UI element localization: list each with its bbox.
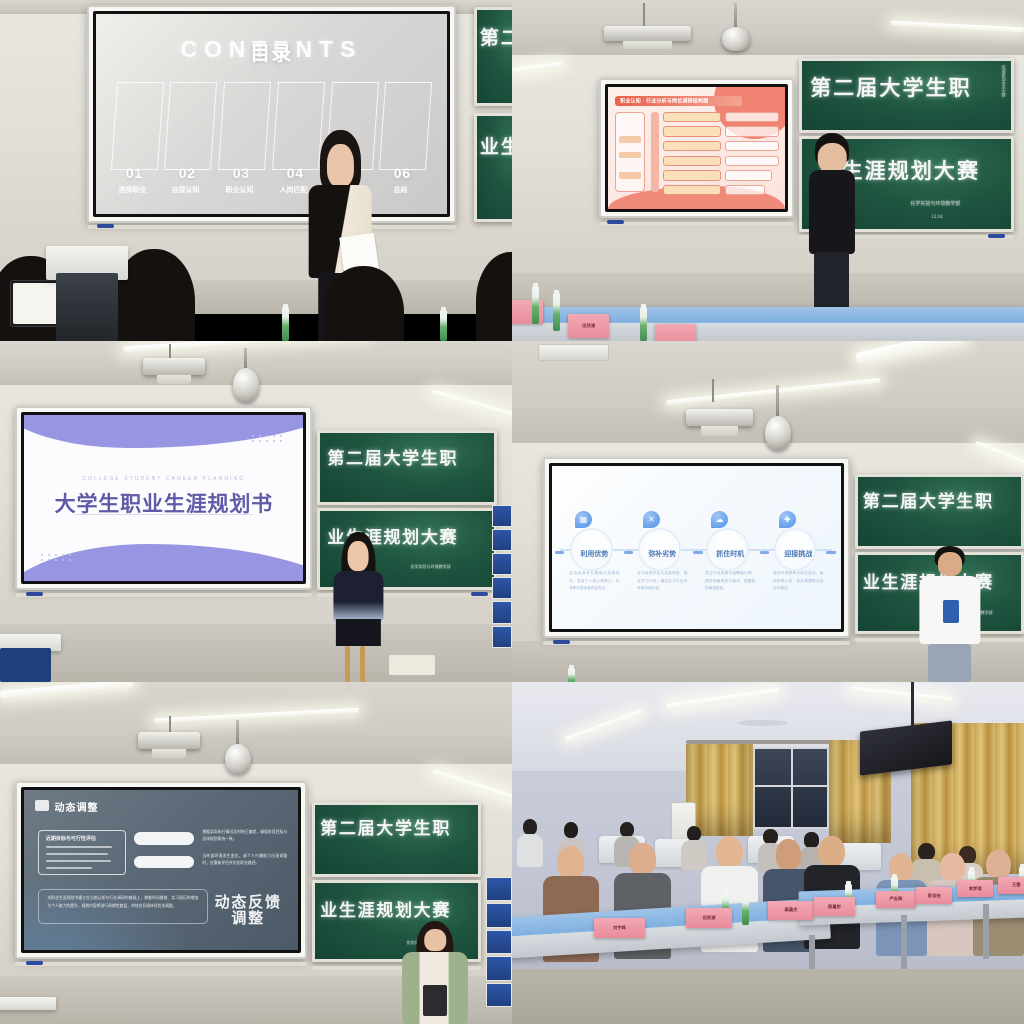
name-placard <box>655 324 696 341</box>
contents-card: 02 自我认知 <box>164 82 217 170</box>
blackboard-upper: 第二届大学生职 <box>855 474 1024 549</box>
window-curtain <box>686 744 753 836</box>
watermark-line2: 调整 <box>215 912 282 928</box>
chalk-text-line2: 业生涯规划大赛 <box>320 896 451 921</box>
water-bottle <box>532 286 539 324</box>
bag <box>423 985 447 1016</box>
presenter-figure <box>328 532 389 682</box>
name-placard: 田欣源 <box>686 908 732 929</box>
blackboard-upper: 第二届大学生职 <box>317 430 496 505</box>
security-camera <box>225 744 251 775</box>
card-label: 选择职业 <box>118 185 146 195</box>
photo-collage: CONTENTS 目录 01 选择职业 02 自我认知 03 职业认 <box>0 0 1024 1024</box>
water-bottle <box>568 668 575 682</box>
audience-member <box>517 819 543 867</box>
panel-contents-slide: CONTENTS 目录 01 选择职业 02 自我认知 03 职业认 <box>0 0 512 341</box>
note-text: 根据实际执行情况及时修正偏差，确保阶段目标与总体规划保持一致。 <box>202 829 287 845</box>
ceiling-vent <box>538 344 610 361</box>
water-bottle <box>440 310 447 341</box>
panel-red-mindmap: 职业认知 · 行业分析与岗位调研结构图 <box>512 0 1024 341</box>
projector <box>138 732 199 749</box>
slide-title: 动态调整 <box>54 799 98 814</box>
water-bottle <box>282 307 289 341</box>
slide-red-mindmap: 职业认知 · 行业分析与岗位调研结构图 <box>608 87 785 209</box>
contents-card: 01 选择职业 <box>110 82 163 170</box>
name-placard: 刘宇辉 <box>594 918 645 939</box>
card-label: 总结 <box>394 185 408 195</box>
step-title: 抓住时机 <box>702 549 759 559</box>
card-label: 职业认知 <box>226 185 254 195</box>
slide-contents: CONTENTS 目录 01 选择职业 02 自我认知 03 职业认 <box>96 14 447 214</box>
tshirt-logo <box>943 600 959 623</box>
water-bottle <box>742 894 749 925</box>
slide-watermark: 动态反馈 调整 <box>215 896 282 928</box>
watermark-line1: 动态反馈 <box>215 896 282 912</box>
card-label: 自我认知 <box>172 185 200 195</box>
chalk-side-note: 欢迎参加本次大赛 <box>1001 65 1007 97</box>
projector <box>143 358 204 375</box>
security-camera <box>722 27 750 51</box>
chalk-text-line1: 第二届大学生职 <box>480 23 512 50</box>
wall-poster-strip <box>492 505 512 648</box>
objective-box: 近期目标与可行性评估 <box>38 830 126 875</box>
step-body: 面对市场竞争与岗位变化，保持积极心态，动态调整职业目标与路径。 <box>773 570 823 592</box>
step-item: ▦ 利用优势 结合自身专业基础与实践经历，发挥个人核心竞争力，在求职中突出差异化… <box>566 489 623 613</box>
name-placard: 严志辉 <box>876 891 917 908</box>
panel-blue-steps: ▦ 利用优势 结合自身专业基础与实践经历，发挥个人核心竞争力，在求职中突出差异化… <box>512 341 1024 682</box>
projector <box>686 409 753 426</box>
tools-icon: ✕ <box>643 511 660 528</box>
step-body: 针对经验不足与技能短板，制定学习计划，通过实习与证书考取持续补强。 <box>637 570 687 592</box>
slide-header: 职业认知 · 行业分析与岗位调研结构图 <box>620 97 708 104</box>
security-camera <box>233 368 259 402</box>
step-item: ✕ 弥补劣势 针对经验不足与技能短板，制定学习计划，通过实习与证书考取持续补强。 <box>634 489 691 613</box>
chalk-subtitle: 化学实验与环境教学部 <box>910 200 960 207</box>
name-placard: 陈佳怡 <box>916 887 952 904</box>
projection-screen: ▦ 利用优势 结合自身专业基础与实践经历，发挥个人核心竞争力，在求职中突出差异化… <box>543 457 850 638</box>
step-title: 利用优势 <box>566 549 623 559</box>
name-placard: 李梦琪 <box>957 880 993 897</box>
title-marker <box>35 800 49 811</box>
projection-screen: 职业认知 · 行业分析与岗位调研结构图 <box>599 78 794 218</box>
step-body: 关注行业政策与招聘窗口期，提前准备简历与面试，把握校招黄金阶段。 <box>705 570 755 592</box>
wall-poster-strip <box>486 877 512 1007</box>
blackboard-lower: 业生涯规划大赛 <box>474 113 512 222</box>
side-table <box>0 997 56 1011</box>
slide-title-cn: 大学生职业生涯规划书 <box>24 488 303 518</box>
side-table-base <box>0 648 51 682</box>
chalk-text-line1: 第二届大学生职 <box>320 814 451 839</box>
chalk-subtitle: 化学实验与环境教学部 <box>410 564 450 570</box>
phone-recording <box>10 280 61 328</box>
summary-box: 本职业生涯规划书建立在当前认知与行业调研的基础上，随着时间推移、实习阅历的增加与… <box>38 889 208 924</box>
water-bottle <box>553 293 560 331</box>
step-title: 弥补劣势 <box>634 549 691 559</box>
name-placard: 田欣源 <box>568 314 609 338</box>
dot-grid <box>41 554 73 561</box>
whiteboard-screen: CONTENTS 目录 01 选择职业 02 自我认知 03 职业认 <box>87 5 456 223</box>
chalk-text-line1: 第二届大学生职 <box>863 487 994 512</box>
card-number: 01 <box>125 165 142 181</box>
panel-dynamic-adjust: 动态调整 近期目标与可行性评估 根据实际执行情况及时修正偏差，确保阶段目标与总体… <box>0 682 512 1024</box>
objective-header: 近期目标与可行性评估 <box>46 835 96 842</box>
slide-dynamic-adjust: 动态调整 近期目标与可行性评估 根据实际执行情况及时修正偏差，确保阶段目标与总体… <box>24 790 298 950</box>
projector <box>604 26 691 41</box>
chalk-date: 12.14 <box>931 215 942 220</box>
presenter-figure <box>916 546 983 682</box>
step-body: 结合自身专业基础与实践经历，发挥个人核心竞争力，在求职中突出差异化亮点。 <box>569 570 619 592</box>
slide-blue-steps: ▦ 利用优势 结合自身专业基础与实践经历，发挥个人核心竞争力，在求职中突出差异化… <box>552 466 841 629</box>
security-camera <box>765 416 791 450</box>
highlight-pill <box>134 832 194 845</box>
contents-card: 06 总结 <box>379 82 432 170</box>
note-text: 当外部环境发生变化，或个人兴趣能力出现调整时，应重新评估并优化职业路径。 <box>202 853 287 869</box>
card-number: 02 <box>179 165 196 181</box>
chalk-text-line2: 业生涯规划大赛 <box>480 132 512 159</box>
dot-grid <box>252 435 284 442</box>
name-placard: 王雪 <box>998 877 1024 894</box>
trash-bin <box>389 655 435 675</box>
blackboard-upper: 第二届大学生职 <box>312 802 481 877</box>
projection-screen: COLLEGE STUDENT CAREER PLANNING 大学生职业生涯规… <box>15 406 312 590</box>
chalk-text-line1: 第二届大学生职 <box>810 72 972 102</box>
window <box>753 747 830 829</box>
step-item: ☁ 抓住时机 关注行业政策与招聘窗口期，提前准备简历与面试，把握校招黄金阶段。 <box>702 489 759 613</box>
highlight-pill <box>134 856 194 869</box>
card-number: 06 <box>394 165 411 181</box>
card-number: 03 <box>233 165 250 181</box>
cloud-icon: ☁ <box>711 511 728 528</box>
blackboard: 第二届大学生职 <box>474 7 512 106</box>
projection-screen: 动态调整 近期目标与可行性评估 根据实际执行情况及时修正偏差，确保阶段目标与总体… <box>15 781 307 959</box>
panel-purple-cover: COLLEGE STUDENT CAREER PLANNING 大学生职业生涯规… <box>0 341 512 682</box>
shield-icon: ✚ <box>779 511 796 528</box>
blackboard-upper: 第二届大学生职 欢迎参加本次大赛 <box>799 58 1014 133</box>
water-bottle <box>640 307 647 341</box>
chart-icon: ▦ <box>575 511 592 528</box>
lectern-base <box>56 273 117 341</box>
panel-audience-hall: 刘宇辉 田欣源 高晨杰 杨嘉彤 严志辉 陈佳怡 李梦琪 王雪 <box>512 682 1024 1024</box>
step-title: 迎接挑战 <box>770 549 827 559</box>
name-placard: 杨嘉彤 <box>814 897 855 916</box>
name-placard: 高晨杰 <box>768 901 814 920</box>
slide-title-en: COLLEGE STUDENT CAREER PLANNING <box>24 476 303 482</box>
presenter-figure <box>399 921 471 1024</box>
slide-purple-cover: COLLEGE STUDENT CAREER PLANNING 大学生职业生涯规… <box>24 415 303 581</box>
slide-title-cn: 目录 <box>250 37 292 66</box>
step-item: ✚ 迎接挑战 面对市场竞争与岗位变化，保持积极心态，动态调整职业目标与路径。 <box>770 489 827 613</box>
chalk-text-line1: 第二届大学生职 <box>327 444 458 469</box>
summary-text: 本职业生涯规划书建立在当前认知与行业调研的基础上，随着时间推移、实习阅历的增加与… <box>47 895 198 911</box>
contents-card: 03 职业认知 <box>218 82 271 170</box>
